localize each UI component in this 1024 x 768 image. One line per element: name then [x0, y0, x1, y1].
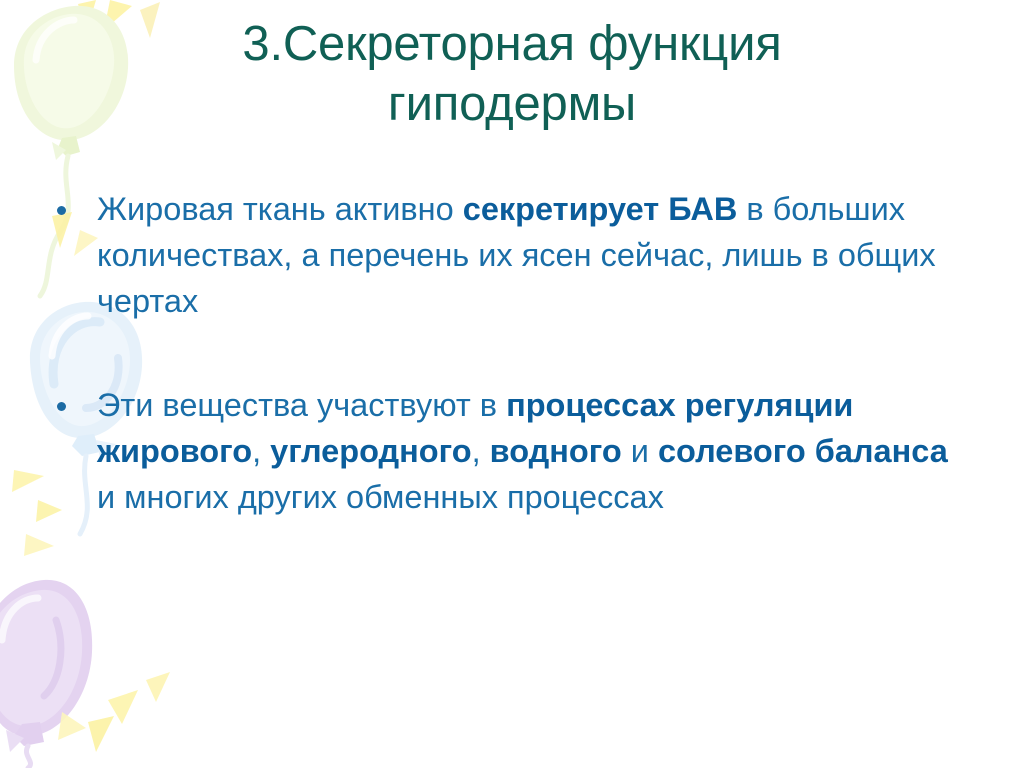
run-plain: Эти вещества участвуют в — [97, 387, 506, 423]
bullet-item-1: Жировая ткань активно секретирует БАВ в … — [57, 186, 967, 324]
bullet-text-1: Жировая ткань активно секретирует БАВ в … — [97, 186, 967, 324]
run-bold: водного — [490, 433, 622, 469]
sparkle-rays-mid — [12, 470, 62, 556]
run-bold: углеродного — [270, 433, 471, 469]
slide-title: 3.Секреторная функция гиподермы — [60, 14, 964, 134]
bullet-text-2: Эти вещества участвуют в процессах регул… — [97, 382, 967, 520]
slide-title-line-1: 3.Секреторная функция — [60, 14, 964, 74]
slide-title-line-2: гиподермы — [60, 74, 964, 134]
bullet-marker-1 — [57, 186, 97, 220]
bullet-dot-icon — [57, 206, 66, 215]
run-bold: солевого баланса — [658, 433, 948, 469]
run-bold: секретирует БАВ — [463, 191, 738, 227]
run-plain: и многих других обменных процессах — [97, 479, 664, 515]
run-plain: Жировая ткань активно — [97, 191, 463, 227]
bullet-dot-icon — [57, 402, 66, 411]
bullet-item-2: Эти вещества участвуют в процессах регул… — [57, 382, 967, 520]
presentation-slide: 3.Секреторная функция гиподермы Жировая … — [0, 0, 1024, 768]
run-plain: и — [622, 433, 658, 469]
run-plain: , — [252, 433, 270, 469]
sparkle-rays-bottom — [58, 672, 170, 752]
bullet-marker-2 — [57, 382, 97, 416]
run-plain: , — [472, 433, 490, 469]
balloon-purple-shape — [0, 580, 92, 768]
slide-body: Жировая ткань активно секретирует БАВ в … — [57, 186, 967, 520]
